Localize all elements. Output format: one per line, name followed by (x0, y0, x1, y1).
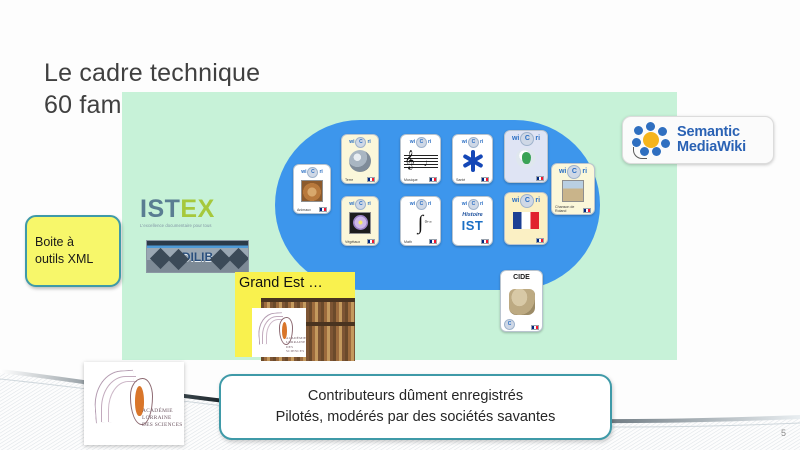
istex-wordmark: ISTEX (140, 196, 250, 222)
wiki-card-france[interactable]: wi C ri (504, 192, 548, 245)
wiki-card-chanson-de-roland[interactable]: wi C ri Chanson de Roland (551, 163, 595, 215)
french-flag-icon (429, 177, 437, 182)
earth-globe-icon (349, 150, 371, 172)
ri-label: ri (428, 199, 431, 210)
ri-label: ri (480, 199, 483, 210)
gear-icon: C (307, 167, 318, 178)
wi-label: wi (410, 137, 415, 148)
wiki-card-sante[interactable]: wi C ri Santé (452, 134, 493, 184)
academy-text-small: ACADÉMIELORRAINEDES SCIENCES (286, 336, 306, 354)
card-image (503, 282, 540, 321)
grand-est-label: Grand Est … (239, 274, 323, 292)
bottom-caption-callout[interactable]: Contributeurs dûment enregistrés Pilotés… (219, 374, 612, 440)
wiki-card-cide[interactable]: CIDE C (500, 270, 543, 332)
french-flag-large-icon (513, 212, 539, 229)
ri-label: ri (319, 167, 322, 178)
wiki-card-terre[interactable]: wi C ri Terre (341, 134, 379, 184)
card-image (455, 148, 490, 173)
card-image (507, 144, 545, 172)
card-image (554, 177, 592, 204)
academy-line-2: LORRAINE (142, 415, 172, 421)
card-footer: Math (403, 235, 438, 244)
slide-canvas: Le cadre technique 60 familles (fr, en) … (0, 0, 800, 450)
caption-line-2: Pilotés, modérés par des sociétés savant… (276, 407, 556, 428)
semantic-mediawiki-icon (631, 121, 671, 159)
ri-label: ri (582, 166, 587, 177)
card-header: wi C ri (554, 166, 592, 177)
istex-word-b: EX (180, 195, 214, 223)
card-label: Végétaux (345, 240, 360, 244)
wi-label: wi (462, 137, 467, 148)
gear-icon: C (416, 137, 427, 148)
card-label: Animaux (297, 208, 311, 212)
semantic-mediawiki-badge[interactable]: Semantic MediaWiki (622, 116, 774, 164)
istex-logo: ISTEX L'excellence documentaire pour tou… (140, 196, 250, 228)
xml-toolbox-callout[interactable]: Boite à outils XML (25, 215, 121, 287)
wi-label: wi (559, 166, 566, 177)
card-label: Math (404, 240, 412, 244)
wiki-card-animaux[interactable]: wi C ri Animaux (293, 164, 331, 214)
card-footer: C (503, 321, 540, 330)
card-image (296, 178, 328, 203)
ri-label: ri (480, 137, 483, 148)
smw-line-2: MediaWiki (677, 140, 746, 155)
title-line-1: Le cadre technique (44, 59, 260, 87)
gear-icon: C (468, 137, 479, 148)
card-footer: Animaux (296, 203, 328, 212)
istex-word-a: IST (140, 195, 180, 223)
french-flag-icon (583, 208, 591, 213)
music-staff-icon: 𝄞♩ (404, 152, 438, 170)
smw-line-1: Semantic (677, 125, 746, 140)
roland-illustration-icon (562, 180, 584, 202)
french-flag-icon (319, 207, 327, 212)
lion-photo-icon (301, 180, 323, 202)
academy-logo-small: ACADÉMIELORRAINEDES SCIENCES (252, 308, 306, 357)
wi-label: wi (512, 133, 519, 144)
academy-line-3: DES SCIENCES (142, 422, 183, 428)
semantic-mediawiki-wordmark: Semantic MediaWiki (677, 125, 746, 155)
card-header: wi C ri (403, 199, 438, 210)
integral-symbol-icon: ∫+∞0 (418, 213, 423, 233)
card-footer: Santé (455, 173, 490, 182)
card-header: wi C ri (455, 137, 490, 148)
card-label: Santé (456, 178, 465, 182)
caption-line-1: Contributeurs dûment enregistrés (308, 386, 523, 407)
gear-icon: C (504, 319, 515, 330)
academy-line-1: ACADÉMIE (142, 408, 173, 414)
wi-label: wi (410, 199, 415, 210)
academy-logo-card: ACADÉMIE LORRAINE DES SCIENCES (84, 362, 184, 445)
star-of-life-icon (462, 150, 484, 172)
wiki-card-afrique[interactable]: wi C ri (504, 130, 548, 183)
french-flag-icon (531, 325, 539, 330)
french-flag-icon (367, 177, 375, 182)
french-flag-icon (481, 239, 489, 244)
french-flag-icon (536, 238, 544, 243)
card-footer: Chanson de Roland (554, 204, 592, 213)
wi-label: wi (462, 199, 467, 210)
gear-icon: C (468, 199, 479, 210)
card-header: wi C ri (507, 195, 545, 206)
card-image: 𝄞♩ (403, 148, 438, 173)
wi-label: wi (512, 195, 519, 206)
istex-tagline: L'excellence documentaire pour tous (140, 223, 250, 228)
card-footer (507, 172, 545, 181)
card-footer (507, 234, 545, 243)
card-label: Musique (404, 178, 418, 182)
card-footer (455, 235, 490, 244)
wiki-card-math[interactable]: wi C ri ∫+∞0 Math (400, 196, 441, 246)
ri-label: ri (535, 195, 540, 206)
academy-text: ACADÉMIE LORRAINE DES SCIENCES (142, 408, 183, 429)
dilib-logo: DILIB (146, 240, 249, 273)
ri-label: ri (535, 133, 540, 144)
toolbox-line-1: Boite à (35, 235, 74, 249)
wiki-card-histoire-ist[interactable]: wi C ri Histoire IST (452, 196, 493, 246)
africa-globe-icon (516, 148, 536, 168)
french-flag-icon (481, 177, 489, 182)
card-header: wi C ri (455, 199, 490, 210)
card-image (507, 206, 545, 234)
card-label: Chanson de Roland (555, 205, 580, 213)
wi-label: wi (301, 167, 306, 178)
card-footer: Terre (344, 173, 376, 182)
toolbox-text: Boite à outils XML (35, 234, 93, 268)
gear-icon: C (355, 199, 366, 210)
card-header: wi C ri (344, 137, 376, 148)
toolbox-line-2: outils XML (35, 252, 93, 266)
ri-label: ri (428, 137, 431, 148)
page-number: 5 (781, 428, 786, 438)
card-image: ∫+∞0 (403, 210, 438, 235)
card-image (344, 148, 376, 173)
card-header: wi C ri (344, 199, 376, 210)
clay-tablet-icon (509, 289, 535, 315)
wiki-card-musique[interactable]: wi C ri 𝄞♩ Musique (400, 134, 441, 184)
french-flag-icon (429, 239, 437, 244)
wi-label: wi (349, 137, 354, 148)
card-image: Histoire IST (455, 210, 490, 235)
card-header: wi C ri (507, 133, 545, 144)
gear-icon: C (355, 137, 366, 148)
french-flag-icon (367, 239, 375, 244)
cide-label: CIDE (513, 273, 530, 282)
card-footer: Végétaux (344, 235, 376, 244)
gear-icon: C (416, 199, 427, 210)
card-image (344, 210, 376, 235)
card-header: wi C ri (296, 167, 328, 178)
grand-est-block: Grand Est … ACADÉMIELORRAINEDES SCIENCES (235, 272, 355, 357)
flower-photo-icon (349, 212, 371, 234)
ri-label: ri (367, 137, 370, 148)
card-header: wi C ri (403, 137, 438, 148)
ist-label: IST (462, 219, 484, 233)
french-flag-icon (536, 176, 544, 181)
ri-label: ri (367, 199, 370, 210)
wi-label: wi (349, 199, 354, 210)
wiki-card-vegetaux[interactable]: wi C ri Végétaux (341, 196, 379, 246)
card-label: Terre (345, 178, 353, 182)
card-footer: Musique (403, 173, 438, 182)
